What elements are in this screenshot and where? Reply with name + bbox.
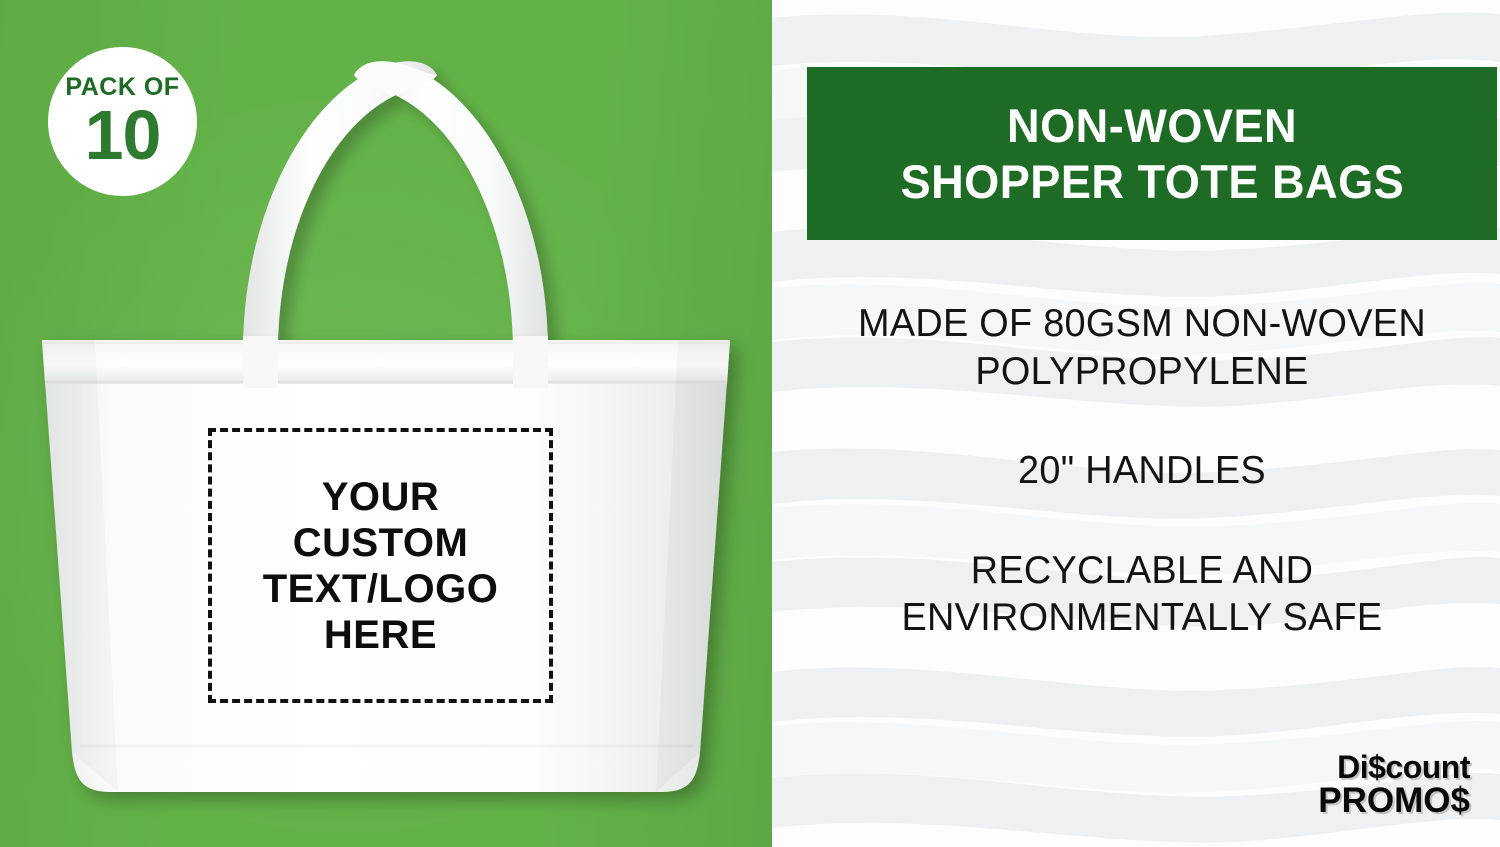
pack-quantity-badge: PACK OF 10 <box>48 47 197 196</box>
product-info-panel: NON-WOVEN SHOPPER TOTE BAGS MADE OF 80GS… <box>772 0 1500 847</box>
product-title-banner: NON-WOVEN SHOPPER TOTE BAGS <box>807 67 1497 240</box>
imprint-line-3: TEXT/LOGO <box>263 566 499 612</box>
feature-item-eco: RECYCLABLE AND ENVIRONMENTALLY SAFE <box>792 547 1492 642</box>
imprint-line-1: YOUR <box>322 474 440 520</box>
product-photo-panel: YOUR CUSTOM TEXT/LOGO HERE PACK OF 10 <box>0 0 772 847</box>
product-title-line-2: SHOPPER TOTE BAGS <box>900 154 1404 209</box>
brand-logo: Di$count PROMO$ <box>1318 751 1470 819</box>
bag-handles <box>243 61 548 352</box>
feature-material-line-1: MADE OF 80GSM NON-WOVEN <box>803 300 1482 348</box>
feature-eco-line-1: RECYCLABLE AND <box>803 547 1482 595</box>
feature-material-line-2: POLYPROPYLENE <box>803 348 1482 396</box>
feature-list: MADE OF 80GSM NON-WOVEN POLYPROPYLENE 20… <box>792 300 1492 642</box>
imprint-line-4: HERE <box>324 612 437 658</box>
imprint-line-2: CUSTOM <box>293 520 469 566</box>
feature-eco-line-2: ENVIRONMENTALLY SAFE <box>803 594 1482 642</box>
feature-item-material: MADE OF 80GSM NON-WOVEN POLYPROPYLENE <box>792 300 1492 395</box>
feature-item-handles: 20" HANDLES <box>792 447 1492 495</box>
imprint-area-dashed-box: YOUR CUSTOM TEXT/LOGO HERE <box>208 428 553 703</box>
product-title-line-1: NON-WOVEN <box>1007 98 1297 153</box>
brand-logo-line-1: Di$count <box>1318 751 1470 784</box>
feature-handles-line-1: 20" HANDLES <box>803 447 1482 495</box>
pack-badge-quantity: 10 <box>85 102 161 169</box>
product-listing-image: YOUR CUSTOM TEXT/LOGO HERE PACK OF 10 <box>0 0 1500 847</box>
brand-logo-line-2: PROMO$ <box>1318 783 1470 819</box>
